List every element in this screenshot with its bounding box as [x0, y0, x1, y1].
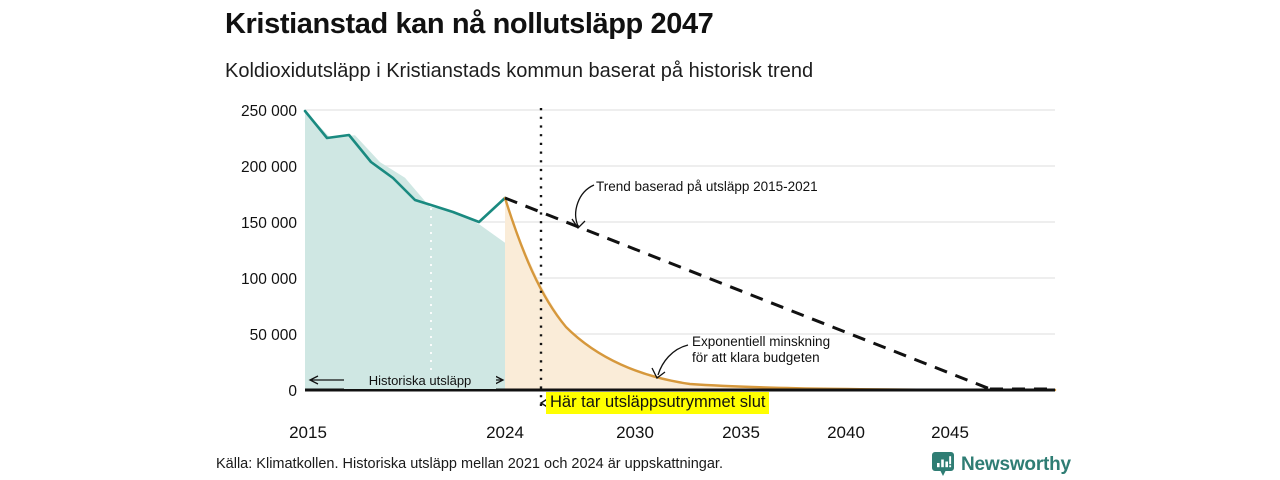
x-tick-2035: 2035 — [722, 423, 760, 442]
exponential-annotation-arrow — [658, 345, 688, 375]
y-tick-100000: 100 000 — [241, 271, 297, 288]
x-tick-2024: 2024 — [486, 423, 524, 442]
exponential-annotation-line1: Exponentiell minskning — [692, 334, 830, 349]
x-axis-ticks: 2015 2024 2030 2035 2040 2045 — [289, 423, 969, 442]
y-tick-250000: 250 000 — [241, 103, 297, 120]
bar-chart-pin-icon — [932, 452, 954, 478]
y-tick-200000: 200 000 — [241, 159, 297, 176]
newsworthy-logo[interactable]: Newsworthy — [932, 452, 1071, 478]
budget-end-label: Här tar utsläppsutrymmet slut — [546, 392, 769, 414]
y-tick-150000: 150 000 — [241, 215, 297, 232]
x-tick-2045: 2045 — [931, 423, 969, 442]
trend-annotation-arrow — [576, 185, 594, 226]
newsworthy-logo-text: Newsworthy — [961, 454, 1071, 476]
y-axis-ticks: 250 000 200 000 150 000 100 000 50 000 0 — [241, 103, 297, 400]
y-tick-50000: 50 000 — [250, 327, 298, 344]
x-tick-2015: 2015 — [289, 423, 327, 442]
exponential-annotation-line2: för att klara budgeten — [692, 350, 820, 365]
x-tick-2030: 2030 — [616, 423, 654, 442]
historical-area — [305, 111, 530, 390]
trend-annotation: Trend baserad på utsläpp 2015-2021 — [596, 179, 818, 194]
historical-span-label: Historiska utsläpp — [369, 373, 472, 388]
y-tick-0: 0 — [288, 383, 297, 400]
x-tick-2040: 2040 — [827, 423, 865, 442]
source-note: Källa: Klimatkollen. Historiska utsläpp … — [216, 456, 723, 472]
